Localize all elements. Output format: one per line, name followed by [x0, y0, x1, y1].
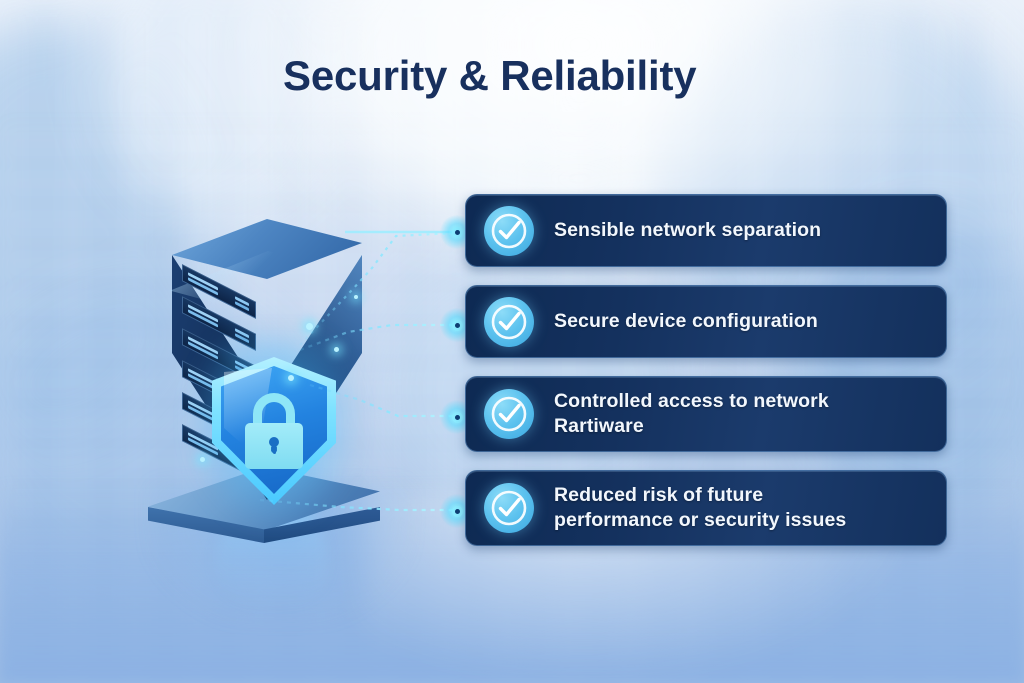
benefit-card-list: Sensible network separation Secure devic…: [465, 194, 947, 564]
benefit-line: Sensible network separation: [554, 218, 821, 243]
benefit-card-2[interactable]: Secure device configuration: [465, 285, 947, 358]
benefit-line: Rartiware: [554, 414, 829, 439]
benefit-line: performance or security issues: [554, 508, 846, 533]
check-circle-icon: [484, 389, 534, 439]
benefit-line: Controlled access to network: [554, 389, 829, 414]
benefit-card-text: Controlled access to network Rartiware: [554, 389, 829, 439]
padlock-keyhole: [269, 437, 279, 447]
benefit-card-text: Sensible network separation: [554, 218, 821, 243]
padlock-shackle: [253, 393, 295, 427]
benefit-card-text: Reduced risk of future performance or se…: [554, 483, 846, 533]
sparkle: [306, 323, 313, 330]
benefit-line: Reduced risk of future: [554, 483, 846, 508]
connector-node-1: [452, 227, 463, 238]
check-circle-icon: [484, 206, 534, 256]
sparkle: [354, 295, 358, 299]
connector-node-4: [452, 506, 463, 517]
benefit-line: Secure device configuration: [554, 309, 818, 334]
infographic-canvas: Security & Reliability: [0, 0, 1024, 683]
check-circle-icon: [484, 483, 534, 533]
security-shield: [212, 357, 336, 505]
page-title: Security & Reliability: [283, 52, 696, 100]
sparkle: [200, 457, 205, 462]
check-circle-icon: [484, 297, 534, 347]
connector-node-2: [452, 320, 463, 331]
sparkle: [334, 347, 339, 352]
benefit-card-text: Secure device configuration: [554, 309, 818, 334]
connector-node-3: [452, 412, 463, 423]
benefit-card-4[interactable]: Reduced risk of future performance or se…: [465, 470, 947, 546]
benefit-card-1[interactable]: Sensible network separation: [465, 194, 947, 267]
sparkle: [288, 375, 294, 381]
benefit-card-3[interactable]: Controlled access to network Rartiware: [465, 376, 947, 452]
server-illustration: [120, 195, 440, 595]
